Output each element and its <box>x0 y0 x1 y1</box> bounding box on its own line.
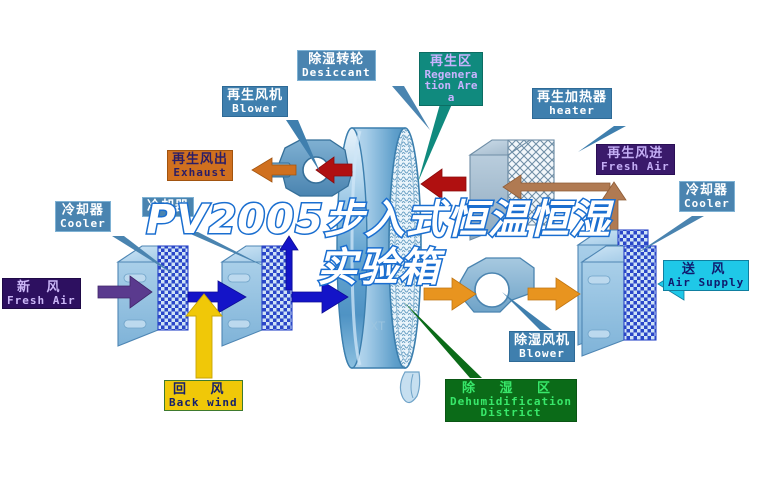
label-back-wind[interactable]: 回 风 Back wind <box>164 380 243 411</box>
label-regen-heater-cn: 再生加热器 <box>537 91 607 105</box>
label-cooler-right[interactable]: 冷却器 Cooler <box>679 181 735 212</box>
label-cooler-right-en: Cooler <box>684 198 730 210</box>
label-regen-fresh-air-cn: 再生风进 <box>601 147 670 161</box>
label-dehum-district-en2: District <box>450 407 572 419</box>
label-cooler-middle[interactable]: 冷却器 <box>142 197 194 217</box>
supply-filter-block <box>582 246 656 356</box>
regen-hot-air-arrow-right <box>421 169 466 199</box>
label-regen-blower[interactable]: 再生风机 Blower <box>222 86 288 117</box>
label-exhaust-cn: 再生风出 <box>172 153 228 167</box>
label-regen-blower-cn: 再生风机 <box>227 89 283 103</box>
diagram-canvas: XT <box>0 0 757 488</box>
label-dehum-blower-en: Blower <box>514 348 570 360</box>
label-regen-blower-en: Blower <box>227 103 283 115</box>
label-back-wind-en: Back wind <box>169 397 238 409</box>
label-dehumidification-district[interactable]: 除 湿 区 Dehumidification District <box>445 379 577 422</box>
wheel-watermark: XT <box>370 319 386 333</box>
label-cooler-middle-cn: 冷却器 <box>147 200 189 214</box>
label-dehum-blower[interactable]: 除湿风机 Blower <box>509 331 575 362</box>
label-fresh-air[interactable]: 新 风 Fresh Air <box>2 278 81 309</box>
back-wind-arrow <box>186 294 222 378</box>
label-exhaust[interactable]: 再生风出 Exhaust <box>167 150 233 181</box>
dehumidification-blower-unit <box>460 258 534 312</box>
label-air-supply-en: Air Supply <box>668 277 744 289</box>
label-exhaust-en: Exhaust <box>172 167 228 179</box>
label-regeneration-area-en: Regeneration Area <box>424 69 478 104</box>
label-fresh-air-en: Fresh Air <box>7 295 76 307</box>
label-air-supply-cn: 送 风 <box>668 263 744 277</box>
label-regen-heater-en: heater <box>537 105 607 117</box>
label-desiccant-en: Desiccant <box>302 67 371 79</box>
label-fresh-air-cn: 新 风 <box>7 281 76 295</box>
label-regeneration-area-cn: 再生区 <box>424 55 478 69</box>
label-cooler-left[interactable]: 冷却器 Cooler <box>55 201 111 232</box>
dehumidifier-flow-diagram: XT <box>0 0 757 488</box>
label-dehum-blower-cn: 除湿风机 <box>514 334 570 348</box>
label-regen-heater[interactable]: 再生加热器 heater <box>532 88 612 119</box>
label-cooler-right-cn: 冷却器 <box>684 184 730 198</box>
label-desiccant-cn: 除湿转轮 <box>302 53 371 67</box>
label-regen-fresh-air-en: Fresh Air <box>601 161 670 173</box>
label-cooler-left-en: Cooler <box>60 218 106 230</box>
label-desiccant[interactable]: 除湿转轮 Desiccant <box>297 50 376 81</box>
label-regeneration-area[interactable]: 再生区 Regeneration Area <box>419 52 483 106</box>
label-regen-fresh-air[interactable]: 再生风进 Fresh Air <box>596 144 675 175</box>
label-back-wind-cn: 回 风 <box>169 383 238 397</box>
label-air-supply[interactable]: 送 风 Air Supply <box>663 260 749 291</box>
label-cooler-left-cn: 冷却器 <box>60 204 106 218</box>
label-dehum-district-cn: 除 湿 区 <box>450 382 572 396</box>
